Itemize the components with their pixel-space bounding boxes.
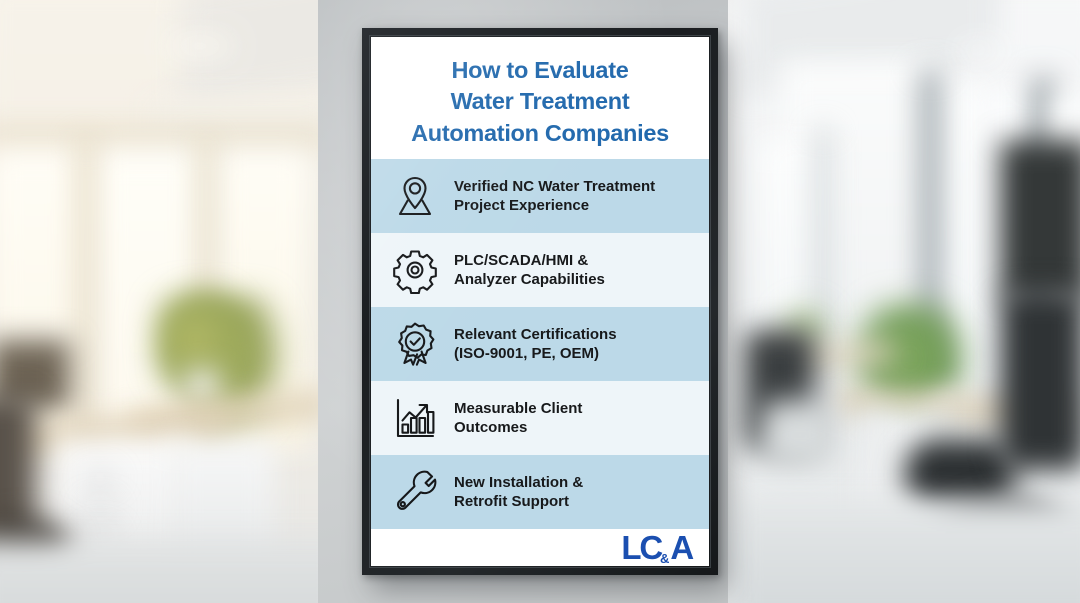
list-item-label-line-2: Outcomes [454, 418, 582, 437]
poster-frame: How to Evaluate Water Treatment Automati… [362, 28, 718, 575]
list-item-label-line-2: Retrofit Support [454, 492, 583, 511]
list-item: Relevant Certifications (ISO-9001, PE, O… [371, 307, 709, 381]
list-item-label-line-2: Analyzer Capabilities [454, 270, 605, 289]
right-chair-white [760, 400, 840, 470]
title-line-2: Water Treatment [385, 86, 695, 117]
right-monitor [1000, 140, 1080, 300]
left-floor [0, 540, 350, 603]
list-item: New Installation & Retrofit Support [371, 455, 709, 529]
ceiling-downlight-right [960, 44, 996, 56]
list-item-label-line-1: PLC/SCADA/HMI & [454, 251, 605, 270]
list-item-label-line-2: (ISO-9001, PE, OEM) [454, 344, 617, 363]
list-item-label: Verified NC Water Treatment Project Expe… [454, 177, 655, 215]
list-item-label: Measurable Client Outcomes [454, 399, 582, 437]
list-item: Measurable Client Outcomes [371, 381, 709, 455]
certification-badge-icon [385, 316, 445, 372]
ceiling-light-panel [170, 38, 230, 54]
bar-chart-growth-icon [385, 390, 445, 446]
location-pin-map-icon [385, 168, 445, 224]
list-item-label: New Installation & Retrofit Support [454, 473, 583, 511]
logo-suffix-text: A [670, 529, 692, 566]
left-cabinet-handle-3 [85, 533, 115, 538]
list-item-label-line-1: Verified NC Water Treatment [454, 177, 655, 196]
right-floor [730, 500, 1080, 603]
title-line-1: How to Evaluate [385, 55, 695, 86]
office-scene: How to Evaluate Water Treatment Automati… [0, 0, 1080, 603]
list-item-label-line-1: Measurable Client [454, 399, 582, 418]
logo-ampersand: & [660, 551, 669, 566]
left-cabinet-handle-2 [85, 505, 115, 510]
poster-title: How to Evaluate Water Treatment Automati… [371, 37, 709, 159]
list-item-label-line-1: New Installation & [454, 473, 583, 492]
left-cabinet-handle-1 [85, 475, 115, 480]
criteria-list: Verified NC Water Treatment Project Expe… [371, 159, 709, 529]
list-item-label: Relevant Certifications (ISO-9001, PE, O… [454, 325, 617, 363]
logo-primary-text: LC [621, 529, 661, 566]
poster: How to Evaluate Water Treatment Automati… [371, 37, 709, 566]
wrench-icon [385, 464, 445, 520]
poster-footer: LC&A [371, 529, 709, 566]
list-item-label-line-1: Relevant Certifications [454, 325, 617, 344]
list-item-label-line-2: Project Experience [454, 196, 655, 215]
left-plant-pot [185, 370, 219, 402]
right-chair-back [1000, 290, 1080, 470]
title-line-3: Automation Companies [385, 118, 695, 149]
list-item-label: PLC/SCADA/HMI & Analyzer Capabilities [454, 251, 605, 289]
left-window-header-beam [0, 128, 330, 148]
list-item: Verified NC Water Treatment Project Expe… [371, 159, 709, 233]
lca-logo: LC&A [621, 531, 692, 564]
gear-icon [385, 242, 445, 298]
list-item: PLC/SCADA/HMI & Analyzer Capabilities [371, 233, 709, 307]
